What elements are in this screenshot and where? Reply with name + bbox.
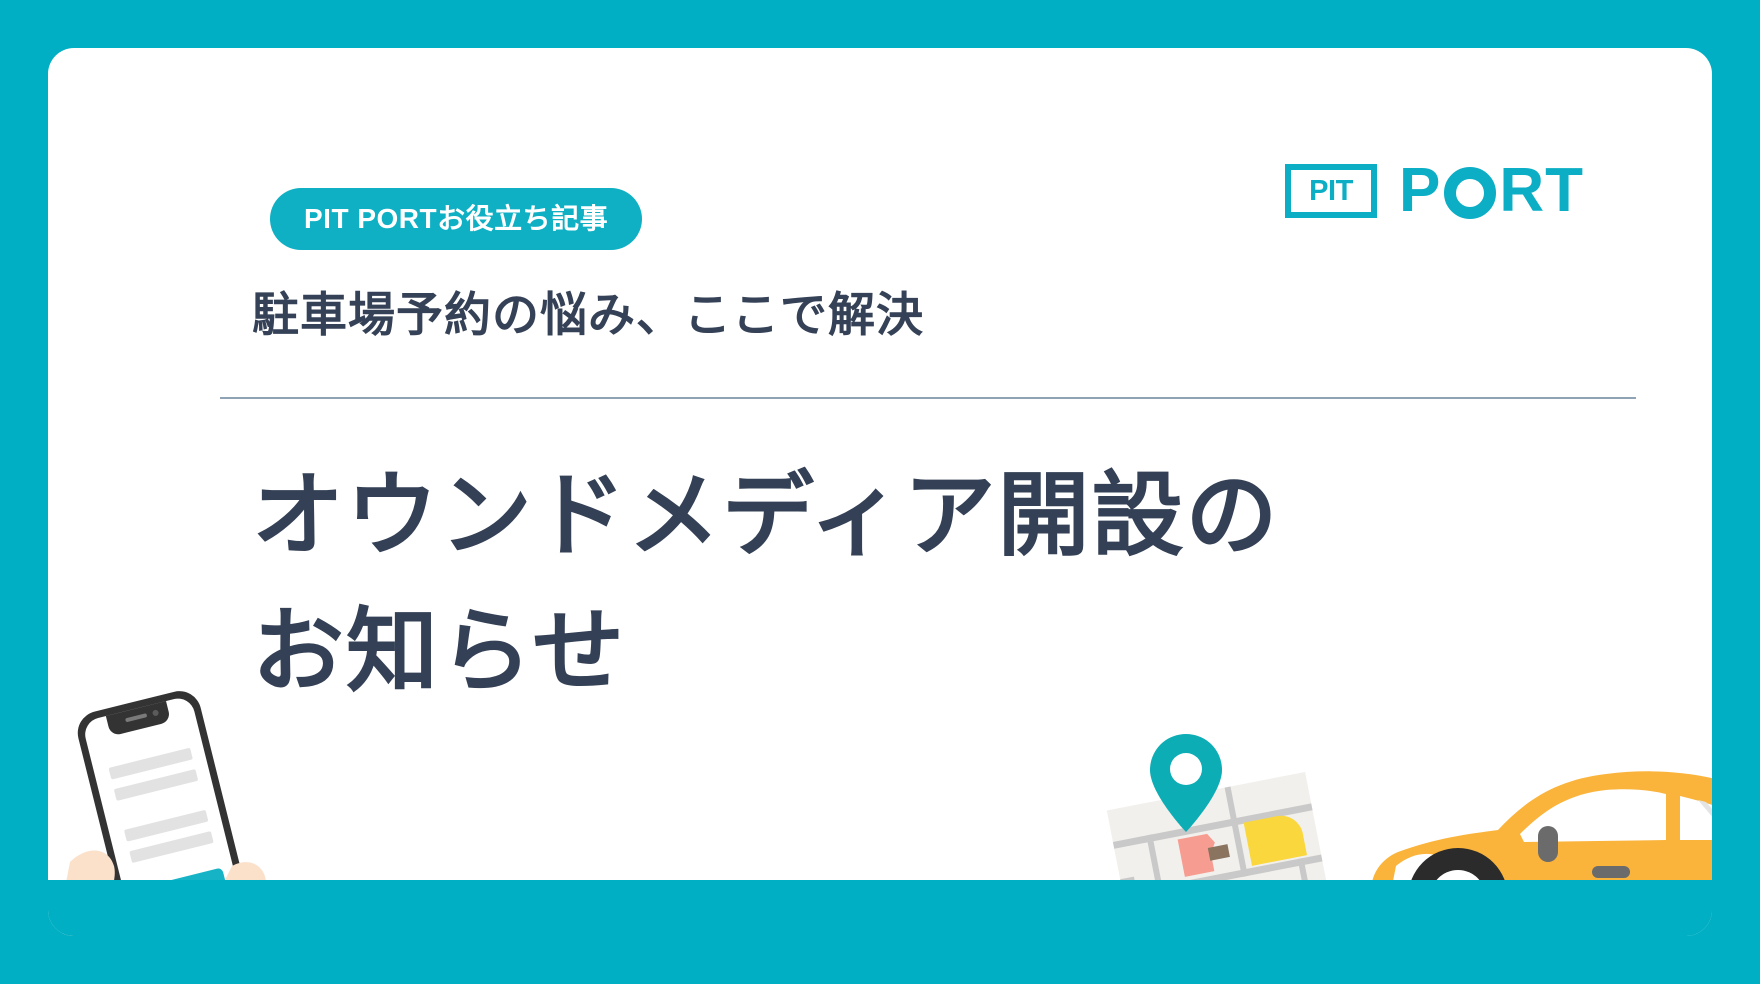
page-title-line-1: オウンドメディア開設の — [252, 448, 1452, 584]
port-wordmark: P RT — [1399, 160, 1584, 222]
category-badge: PIT PORTお役立ち記事 — [270, 188, 642, 250]
page-title-line-2: お知らせ — [252, 584, 1452, 720]
page-title: オウンドメディア開設の お知らせ — [252, 448, 1452, 720]
card-bottom-strip — [48, 880, 1712, 936]
car-side-mirror — [1538, 826, 1558, 862]
brand-logo: PIT P RT — [1285, 160, 1584, 222]
article-subtitle: 駐車場予約の悩み、ここで解決 — [252, 276, 924, 345]
port-wordmark-prefix: P — [1399, 160, 1441, 222]
port-wordmark-suffix: RT — [1499, 160, 1584, 222]
category-badge-label: PIT PORTお役立ち記事 — [304, 205, 608, 233]
port-o-ring-icon — [1444, 167, 1496, 219]
pit-logo-text: PIT — [1309, 177, 1353, 206]
poster-canvas: PIT PORTお役立ち記事 PIT P RT 駐車場予約の悩み、ここで解決 オ… — [0, 0, 1760, 984]
pit-logo-mark: PIT — [1285, 164, 1377, 218]
content-card: PIT PORTお役立ち記事 PIT P RT 駐車場予約の悩み、ここで解決 オ… — [48, 48, 1712, 936]
header-divider — [220, 397, 1636, 399]
car-door-handle — [1592, 866, 1630, 878]
